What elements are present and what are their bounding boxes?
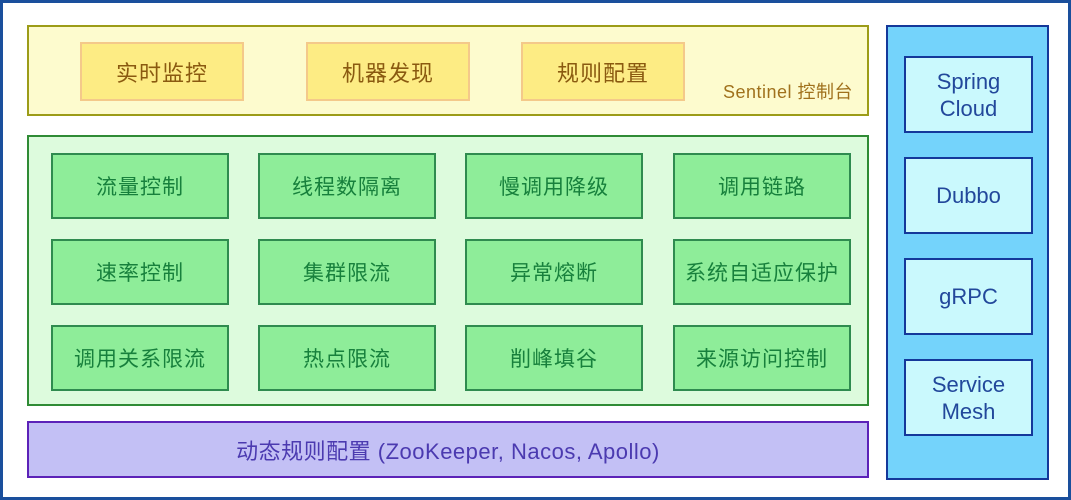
core-capability-label: 系统自适应保护: [685, 257, 839, 287]
dashboard-feature-box-machine-discovery[interactable]: 机器发现: [306, 42, 470, 101]
adapter-label: Spring Cloud: [937, 68, 1001, 122]
core-capability-box-thread-isolation[interactable]: 线程数隔离: [258, 153, 436, 219]
core-capability-label: 来源访问控制: [696, 343, 828, 373]
core-capability-box-flow-control[interactable]: 流量控制: [51, 153, 229, 219]
dashboard-panel-title: Sentinel 控制台: [723, 78, 853, 104]
adapter-label-line2: Mesh: [942, 399, 996, 424]
sentinel-core-capability-panel: 流量控制 线程数隔离 慢调用降级 调用链路 速率控制 集群限流 异常熔断 系统自…: [27, 135, 869, 406]
core-capability-label: 慢调用降级: [499, 171, 609, 201]
adapter-box-spring-cloud[interactable]: Spring Cloud: [904, 56, 1033, 133]
core-capability-box-peak-shaving[interactable]: 削峰填谷: [465, 325, 643, 391]
core-capability-box-origin-access-control[interactable]: 来源访问控制: [673, 325, 851, 391]
core-capability-box-system-adaptive-protection[interactable]: 系统自适应保护: [673, 239, 851, 305]
core-capability-label: 线程数隔离: [292, 171, 402, 201]
framework-adapter-panel: Spring Cloud Dubbo gRPC Service Mesh: [886, 25, 1049, 480]
core-capability-label: 集群限流: [303, 257, 391, 287]
adapter-label-line2: Cloud: [940, 96, 997, 121]
dashboard-feature-label: 实时监控: [116, 56, 208, 88]
core-capability-box-slow-call-degrade[interactable]: 慢调用降级: [465, 153, 643, 219]
core-capability-label: 流量控制: [96, 171, 184, 201]
core-capability-box-rate-control[interactable]: 速率控制: [51, 239, 229, 305]
core-capability-box-exception-circuit-break[interactable]: 异常熔断: [465, 239, 643, 305]
core-capability-box-relation-flow-control[interactable]: 调用关系限流: [51, 325, 229, 391]
adapter-label-line1: Service: [932, 372, 1005, 397]
core-capability-box-cluster-flow-control[interactable]: 集群限流: [258, 239, 436, 305]
core-capability-box-hotspot-flow-control[interactable]: 热点限流: [258, 325, 436, 391]
core-capability-label: 削峰填谷: [510, 343, 598, 373]
diagram-canvas: 实时监控 机器发现 规则配置 Sentinel 控制台 流量控制 线程数隔离 慢…: [0, 0, 1071, 500]
core-capability-label: 调用关系限流: [74, 343, 206, 373]
adapter-box-grpc[interactable]: gRPC: [904, 258, 1033, 335]
adapter-box-service-mesh[interactable]: Service Mesh: [904, 359, 1033, 436]
sentinel-stack-column: 实时监控 机器发现 规则配置 Sentinel 控制台 流量控制 线程数隔离 慢…: [27, 25, 869, 480]
dashboard-feature-label: 规则配置: [557, 56, 649, 88]
core-capability-label: 调用链路: [718, 171, 806, 201]
adapter-label: gRPC: [939, 283, 998, 310]
dynamic-rule-config-bar[interactable]: 动态规则配置 (ZooKeeper, Nacos, Apollo): [27, 421, 869, 478]
adapter-label-line1: Spring: [937, 69, 1001, 94]
core-capability-label: 速率控制: [96, 257, 184, 287]
dashboard-feature-label: 机器发现: [342, 56, 434, 88]
dashboard-feature-box-rule-configuration[interactable]: 规则配置: [521, 42, 685, 101]
core-capability-label: 异常熔断: [510, 257, 598, 287]
adapter-label: Service Mesh: [932, 371, 1005, 425]
core-capability-box-call-chain[interactable]: 调用链路: [673, 153, 851, 219]
sentinel-dashboard-panel: 实时监控 机器发现 规则配置 Sentinel 控制台: [27, 25, 869, 116]
adapter-label: Dubbo: [936, 182, 1001, 209]
dynamic-rule-config-label: 动态规则配置 (ZooKeeper, Nacos, Apollo): [236, 434, 660, 466]
dashboard-feature-box-realtime-monitoring[interactable]: 实时监控: [80, 42, 244, 101]
adapter-box-dubbo[interactable]: Dubbo: [904, 157, 1033, 234]
core-capability-label: 热点限流: [303, 343, 391, 373]
